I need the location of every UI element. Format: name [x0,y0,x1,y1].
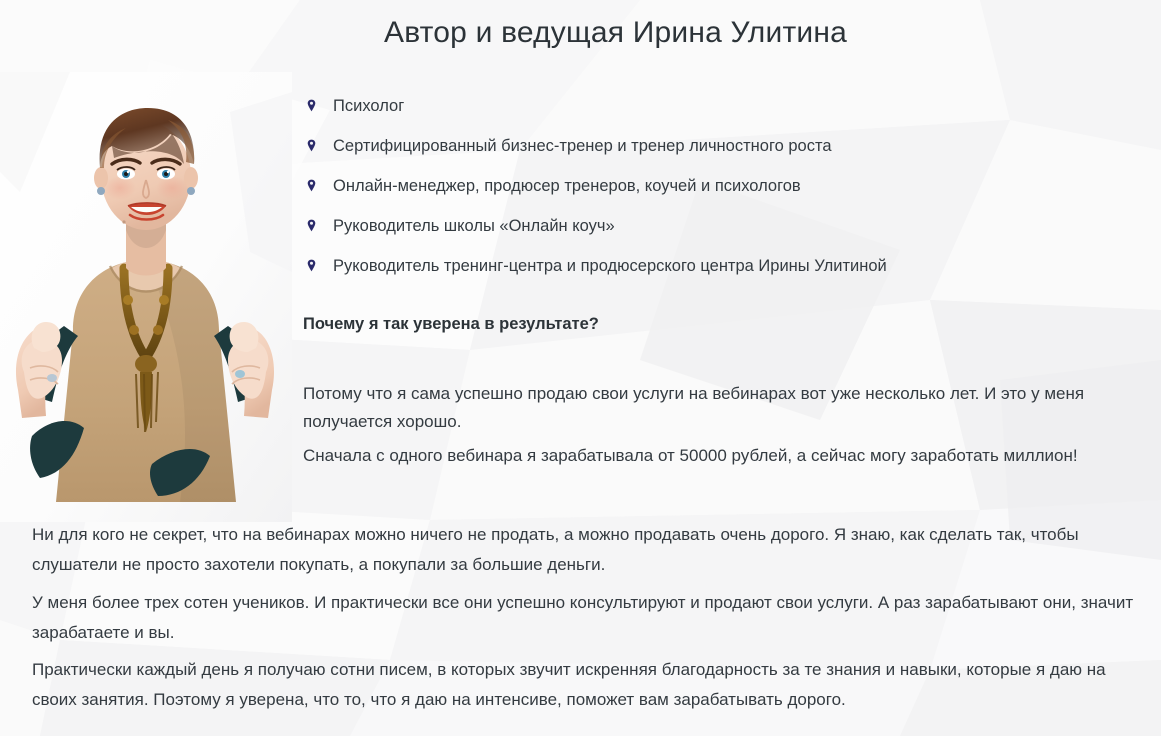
credential-text: Психолог [333,97,404,115]
lead-paragraph: Потому что я сама успешно продаю свои ус… [303,380,1103,436]
list-item: Психолог [303,96,1093,116]
map-pin-icon [307,99,316,112]
section-heading: Почему я так уверена в результате? [303,313,599,335]
map-pin-icon [307,219,316,232]
list-item: Сертифицированный бизнес-тренер и тренер… [303,136,1093,156]
author-portrait-photo [0,72,292,522]
map-pin-icon [307,179,316,192]
list-item: Руководитель тренинг-центра и продюсерск… [303,256,1093,276]
credential-text: Руководитель школы «Онлайн коуч» [333,217,615,235]
portrait-illustration [0,72,292,522]
body-paragraph: Практически каждый день я получаю сотни … [32,655,1142,715]
map-pin-icon [307,259,316,272]
map-pin-icon [307,139,316,152]
lead-paragraph: Сначала с одного вебинара я зарабатывала… [303,442,1103,470]
credentials-list: Психолог Сертифицированный бизнес-тренер… [303,96,1093,296]
body-paragraph: Ни для кого не секрет, что на вебинарах … [32,520,1142,580]
page-root: Автор и ведущая Ирина Улитина [0,0,1161,736]
credential-text: Руководитель тренинг-центра и продюсерск… [333,257,887,275]
list-item: Руководитель школы «Онлайн коуч» [303,216,1093,236]
credential-text: Онлайн-менеджер, продюсер тренеров, коуч… [333,177,801,195]
credential-text: Сертифицированный бизнес-тренер и тренер… [333,137,832,155]
page-title: Автор и ведущая Ирина Улитина [0,14,1161,52]
body-paragraph: У меня более трех сотен учеников. И прак… [32,588,1142,648]
list-item: Онлайн-менеджер, продюсер тренеров, коуч… [303,176,1093,196]
